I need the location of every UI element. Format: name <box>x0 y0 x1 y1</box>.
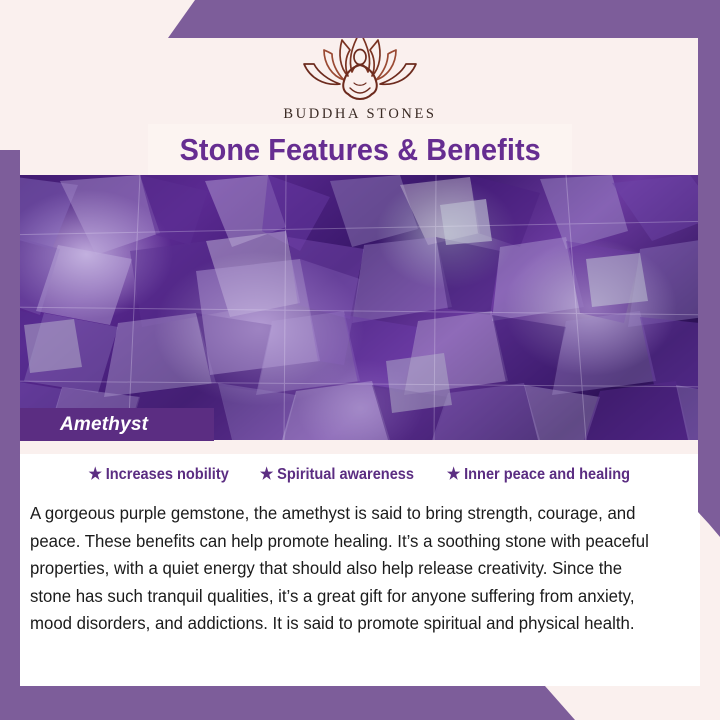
decor-bottom-band <box>0 686 720 720</box>
brand-logo: BUDDHA STONES <box>0 26 720 123</box>
crystal-facets-overlay <box>0 175 720 440</box>
decor-right-strip <box>698 0 720 537</box>
page-title-band: Stone Features & Benefits <box>148 124 572 175</box>
stone-name-tag: Amethyst <box>18 408 214 441</box>
benefit-label: Increases nobility <box>106 466 229 484</box>
benefit-label: Spiritual awareness <box>277 466 414 484</box>
amethyst-hero-image <box>0 175 720 440</box>
stone-description: A gorgeous purple gemstone, the amethyst… <box>30 500 667 638</box>
star-icon: ★ <box>88 467 101 483</box>
benefits-list: ★ Increases nobility ★ Spiritual awarene… <box>20 466 700 484</box>
benefit-label: Inner peace and healing <box>464 466 630 484</box>
stone-features-infographic: BUDDHA STONES Stone Features & Benefits … <box>0 0 720 720</box>
benefit-item-1: ★ Spiritual awareness <box>260 466 414 484</box>
decor-left-strip <box>0 150 20 702</box>
stone-name-label: Amethyst <box>60 414 148 436</box>
star-icon: ★ <box>447 467 460 483</box>
benefit-item-2: ★ Inner peace and healing <box>447 466 630 484</box>
brand-name: BUDDHA STONES <box>283 106 436 123</box>
card-top-tint <box>20 440 700 454</box>
benefit-item-0: ★ Increases nobility <box>88 466 228 484</box>
star-icon: ★ <box>260 467 273 483</box>
page-title: Stone Features & Benefits <box>179 132 540 168</box>
